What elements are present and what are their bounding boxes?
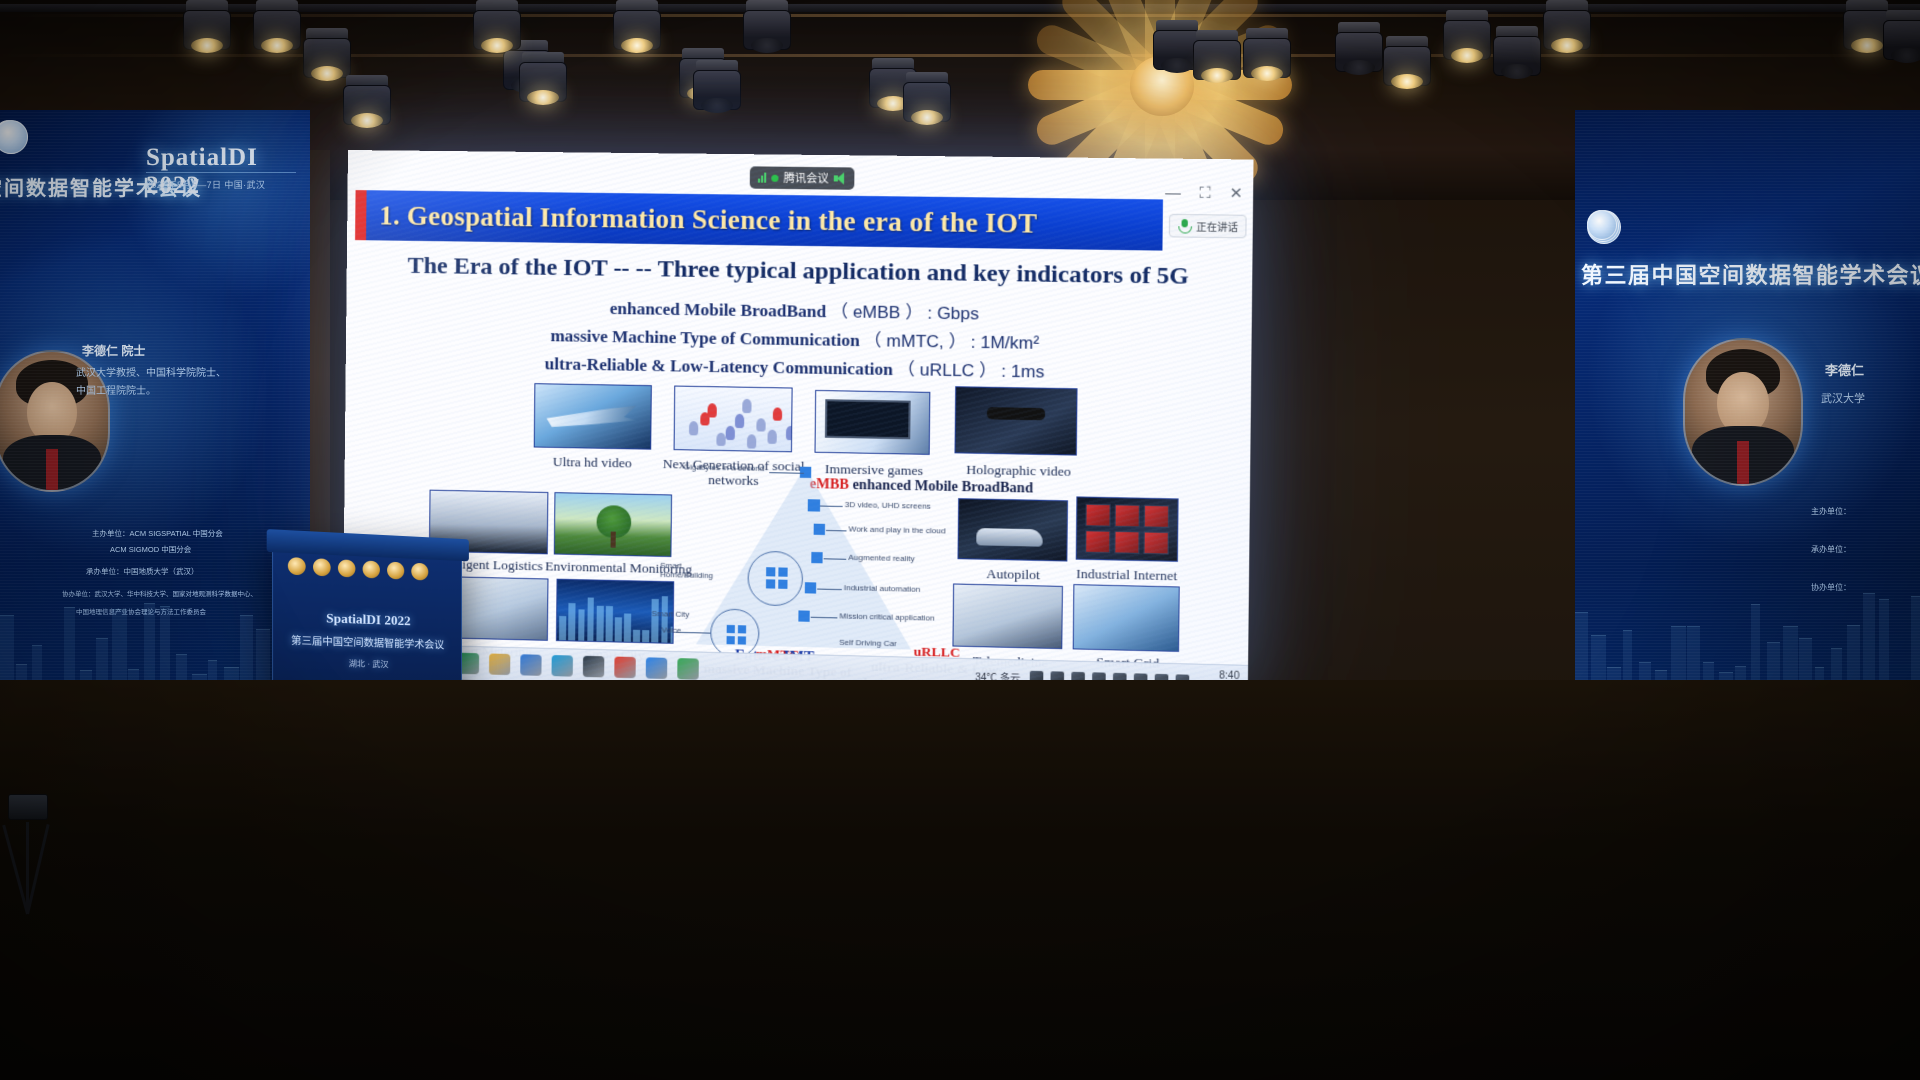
projection-screen: 腾讯会议 — ⛶ ✕ 正在讲话 1. Geospatial Informatio… <box>342 150 1253 700</box>
org-logo-icon <box>1587 210 1617 240</box>
speaker-portrait <box>0 350 110 492</box>
tile-caption: Industrial Internet <box>1065 566 1188 584</box>
tile-holographic-video <box>954 386 1077 455</box>
indicator-name: ultra-Reliable & Low-Latency Communicati… <box>545 354 893 379</box>
city-building <box>596 606 603 641</box>
led-left-date: 2022年8月5—7日 中国·武汉 <box>146 178 265 191</box>
org-logo-icon <box>1587 210 1621 244</box>
tile-telemedicine <box>952 583 1063 649</box>
led-right-org-1: 主办单位： <box>1811 506 1851 517</box>
led-right-org-2: 承办单位： <box>1811 544 1851 555</box>
city-building <box>559 615 566 640</box>
stage-spotlight-icon <box>1880 10 1920 72</box>
led-right-speaker-title: 武汉大学 <box>1821 390 1865 406</box>
city-building <box>568 603 575 640</box>
indicator-abbr: （ eMBB ） <box>830 302 923 323</box>
org-logo-icon <box>1587 210 1617 240</box>
stage-spotlight-icon <box>610 0 664 62</box>
podium-logos <box>288 557 428 581</box>
city-building <box>624 613 631 641</box>
360-icon[interactable] <box>614 657 636 679</box>
org-logo-icon <box>363 560 380 578</box>
stage-spotlight-icon <box>1380 36 1434 98</box>
org-logo-icon <box>338 559 356 577</box>
stage-spotlight-icon <box>470 0 524 62</box>
slide-subtitle: The Era of the IOT -- -- Three typical a… <box>347 252 1253 292</box>
indicator-value: : Gbps <box>927 303 979 323</box>
indicator-value: : 1ms <box>1001 362 1044 382</box>
speaker-portrait <box>1683 338 1803 486</box>
network-person-icon <box>756 418 765 432</box>
led-right-speaker-name: 李德仁 <box>1825 360 1864 379</box>
tile-industrial-internet <box>1076 496 1179 561</box>
org-logo-icon <box>1587 210 1617 240</box>
diagram-label: Augmented reality <box>848 553 914 564</box>
indicator-name: massive Machine Type of Communication <box>550 326 859 350</box>
stage-spotlight-icon <box>340 75 394 137</box>
window-controls[interactable]: — ⛶ ✕ <box>1165 185 1243 201</box>
speaking-indicator: 正在讲话 <box>1169 214 1247 239</box>
video-icon[interactable] <box>677 658 699 680</box>
stage-spotlight-icon <box>1540 0 1594 62</box>
meeting-icon[interactable] <box>646 657 668 679</box>
network-person-icon <box>735 414 744 428</box>
org-logo-icon <box>0 120 24 150</box>
network-person-icon <box>689 421 698 435</box>
diagram-label: Smart City <box>651 609 689 619</box>
city-building <box>615 617 622 642</box>
conference-hall-photo: 空间数据智能学术会议 SpatialDI 2022 2022年8月5—7日 中国… <box>0 0 1920 1080</box>
mail-icon[interactable] <box>520 654 541 676</box>
org-logo-icon <box>1587 210 1615 238</box>
network-person-icon <box>726 426 735 440</box>
diagram-label: Industrial automation <box>844 583 921 594</box>
led-left-org-4: 协办单位：武汉大学、华中科技大学、国家对地观测科学数据中心、 <box>62 588 257 598</box>
speaking-label: 正在讲话 <box>1196 218 1238 234</box>
led-left-speaker-name: 李德仁 院士 <box>82 342 145 359</box>
stage-spotlight-icon <box>690 60 744 122</box>
diagram-label: Smart Home/Building <box>660 561 713 580</box>
network-person-icon <box>773 407 782 421</box>
org-logo-icon <box>0 120 28 154</box>
led-left-org-3: 承办单位：中国地质大学（武汉） <box>86 566 199 577</box>
microphone-icon <box>1177 218 1191 234</box>
edge-icon[interactable] <box>552 655 573 677</box>
meeting-app-name: 腾讯会议 <box>784 170 829 187</box>
stage-spotlight-icon <box>180 0 234 62</box>
network-person-icon <box>700 412 709 426</box>
tile-autopilot <box>958 498 1069 561</box>
led-left-brand: SpatialDI 2022 <box>146 144 310 200</box>
network-person-icon <box>747 434 756 448</box>
future-imt-diagram: Gigabytes in a second 3D video, UHD scre… <box>645 456 954 665</box>
org-logo-icon <box>0 120 28 154</box>
speaker-icon <box>834 172 846 184</box>
led-right-org-3: 协办单位： <box>1811 582 1851 593</box>
org-logo-icon <box>288 557 306 575</box>
network-person-icon <box>742 399 751 413</box>
camera-icon <box>8 794 48 820</box>
network-person-icon <box>786 426 792 440</box>
podium-brand: SpatialDI 2022 <box>273 608 461 631</box>
camera-tripod <box>4 794 50 914</box>
tile-immersive-games <box>814 390 930 455</box>
led-left-speaker-title-1: 武汉大学教授、中国科学院院士、 <box>76 364 226 379</box>
stage-spotlight-icon <box>1190 30 1244 92</box>
org-logo-icon <box>1587 210 1617 240</box>
status-dot-icon <box>771 174 778 181</box>
qq-icon[interactable] <box>583 656 604 678</box>
tile-caption: Autopilot <box>953 565 1073 583</box>
snapshot-button[interactable]: ⛶ <box>1199 186 1210 201</box>
led-left-speaker-title-2: 中国工程院院士。 <box>76 382 156 397</box>
city-building <box>633 630 640 642</box>
org-logo-icon <box>411 563 428 581</box>
org-logo-icon <box>387 562 404 580</box>
led-left-org-2: ACM SIGMOD 中国分会 <box>110 544 191 555</box>
tile-smart-grid <box>1073 584 1180 652</box>
minimize-button[interactable]: — <box>1165 185 1181 201</box>
city-building <box>587 598 594 641</box>
diagram-label: Gigabytes in a second <box>684 462 765 473</box>
city-building <box>605 606 612 642</box>
diagram-label: Self Driving Car <box>839 638 897 649</box>
led-right-conference-cn: 第三届中国空间数据智能学术会议 <box>1581 258 1920 290</box>
org-logo-icon <box>0 120 24 150</box>
stage-spotlight-icon <box>1332 22 1386 84</box>
explorer-icon[interactable] <box>489 653 510 675</box>
indicator-value: : 1M/km² <box>971 333 1040 353</box>
led-left-org-5: 中国地理信息产业协会理论与方法工作委员会 <box>76 606 206 616</box>
indicator-name: enhanced Mobile BroadBand <box>610 299 827 321</box>
podium-location: 湖北 · 武汉 <box>273 656 461 672</box>
tile-caption: Ultra hd video <box>521 453 663 471</box>
slide-title: 1. Geospatial Information Science in the… <box>355 200 1037 240</box>
stage-spotlight-icon <box>1240 28 1294 90</box>
stage-spotlight-icon <box>516 52 570 114</box>
tencent-meeting-pill[interactable]: 腾讯会议 <box>750 166 855 189</box>
diagram-label: 3D video, UHD screens <box>845 500 931 511</box>
audience-floor <box>0 680 1920 1080</box>
diagram-label: Voice <box>661 625 681 635</box>
signal-bars-icon <box>758 173 766 183</box>
led-panel-right: 第三届中国空间数据智能学术会议 李德仁 武汉大学 主办单位： 承办单位： 协办单… <box>1575 110 1920 710</box>
tile-caption: Holographic video <box>946 461 1091 479</box>
stage-spotlight-icon <box>740 0 794 62</box>
stage-spotlight-icon <box>250 0 304 62</box>
stage-spotlight-icon <box>900 72 954 134</box>
indicator-abbr: （ uRLLC ） <box>897 360 997 381</box>
led-left-org-1: 主办单位：ACM SIGSPATIAL 中国分会 <box>92 528 223 539</box>
indicator-abbr: （ mMTC, ） <box>864 331 966 352</box>
tile-ultra-hd-video <box>534 383 652 450</box>
city-building <box>578 609 585 640</box>
podium-title: 第三届中国空间数据智能学术会议 <box>273 631 461 652</box>
close-button[interactable]: ✕ <box>1229 186 1242 202</box>
network-person-icon <box>716 432 725 446</box>
org-logo-icon <box>1587 210 1619 242</box>
led-left-conference-cn: 空间数据智能学术会议 <box>0 172 282 201</box>
network-person-icon <box>768 430 777 444</box>
stage-spotlight-icon <box>1490 26 1544 88</box>
led-panel-left: 空间数据智能学术会议 SpatialDI 2022 2022年8月5—7日 中国… <box>0 110 310 710</box>
tile-next-gen-social <box>674 386 793 453</box>
org-logo-icon <box>313 558 331 576</box>
slide-title-bar: 1. Geospatial Information Science in the… <box>355 190 1163 250</box>
stage-spotlight-icon <box>1440 10 1494 72</box>
